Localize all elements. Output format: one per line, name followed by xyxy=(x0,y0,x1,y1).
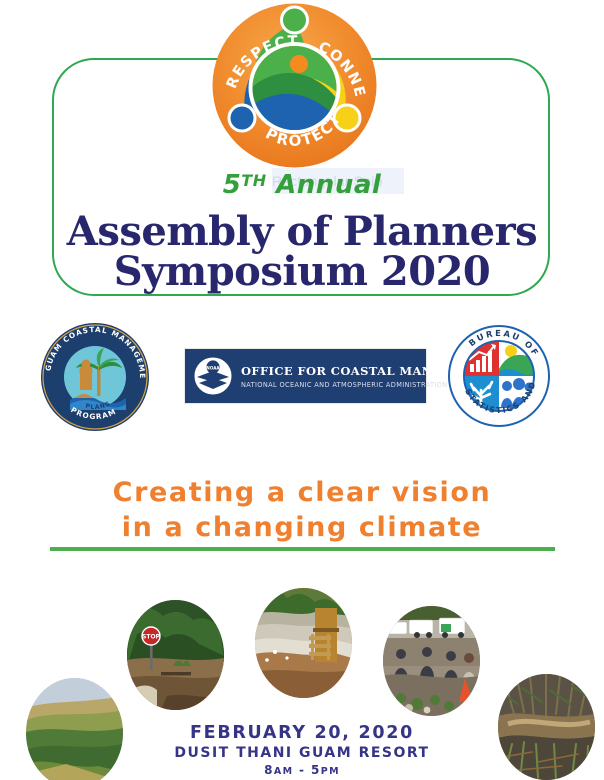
tagline-line-1: Creating a clear vision xyxy=(0,475,604,510)
ordinal-suffix: TH xyxy=(241,171,266,190)
event-time: 8AM - 5PM xyxy=(0,763,604,777)
photo-flooded-road-stop-sign: STOP xyxy=(127,600,224,710)
bureau-of-statistics-and-plans-seal: BUREAU OF STATISTICS AND PLANS xyxy=(447,324,551,428)
photo-community-cleanup xyxy=(383,606,480,716)
time-start-hour: 8 xyxy=(264,763,274,777)
sponsor-logo-strip: GUAM COASTAL MANAGEMENT PROGRAM BUREAU O… xyxy=(0,322,604,432)
event-tagline: Creating a clear vision in a changing cl… xyxy=(0,475,604,545)
event-date: FEBRUARY 20, 2020 xyxy=(0,723,604,743)
annual-word: Annual xyxy=(276,170,381,200)
time-separator: - xyxy=(299,763,305,777)
svg-text:STOP: STOP xyxy=(142,634,161,641)
ordinal-number: 5 xyxy=(223,170,242,200)
noaa-office-for-coastal-management-banner: NOAA OFFICE FOR COASTAL MANAGEMENT NATIO… xyxy=(184,348,427,404)
time-end-hour: 5 xyxy=(311,763,321,777)
svg-text:NOAA: NOAA xyxy=(206,365,220,370)
event-details: FEBRUARY 20, 2020 DUSIT THANI GUAM RESOR… xyxy=(0,723,604,777)
green-divider-rule xyxy=(50,547,555,551)
page-title-line-2: Symposium 2020 xyxy=(0,248,604,295)
noaa-seagull-icon: NOAA xyxy=(193,356,233,396)
tagline-line-2: in a changing climate xyxy=(0,510,604,545)
guam-coastal-management-program-seal: GUAM COASTAL MANAGEMENT PROGRAM BUREAU O… xyxy=(40,322,150,432)
event-venue: DUSIT THANI GUAM RESORT xyxy=(0,745,604,761)
time-end-meridiem: PM xyxy=(321,766,340,777)
poster-root: RESPECT CONNECT PROTECT Rectangular Snip… xyxy=(0,0,604,780)
respect-connect-protect-emblem: RESPECT CONNECT PROTECT xyxy=(211,2,378,169)
annual-ordinal-line: 5TH Annual xyxy=(0,170,604,200)
photo-shoreline-erosion xyxy=(255,588,352,698)
time-start-meridiem: AM xyxy=(274,766,294,777)
